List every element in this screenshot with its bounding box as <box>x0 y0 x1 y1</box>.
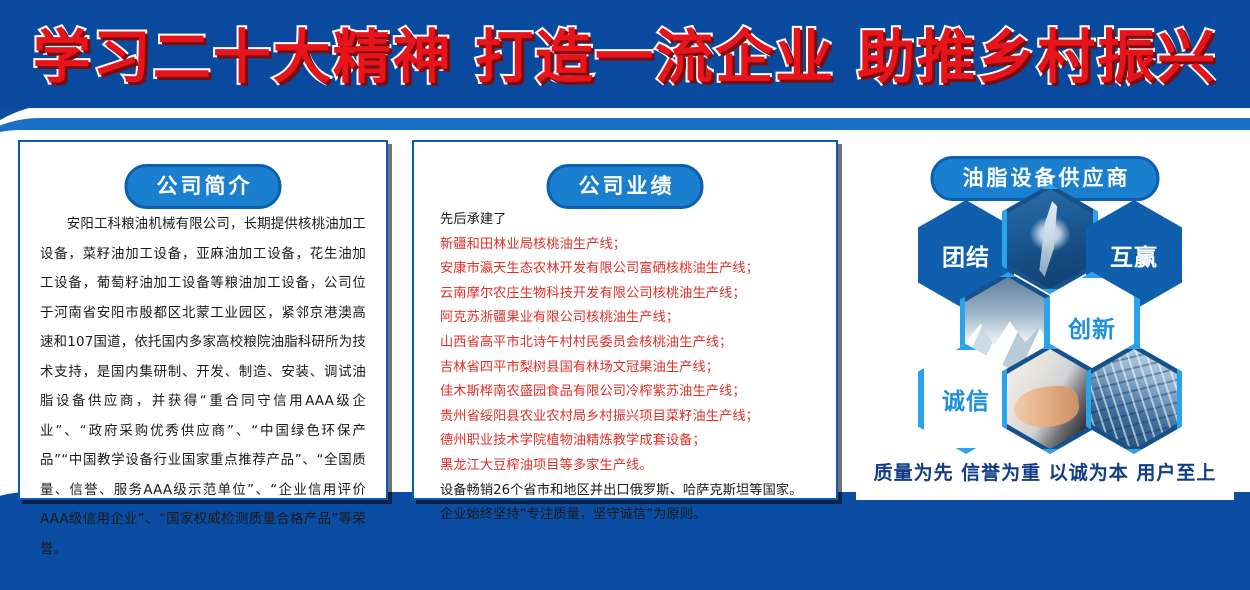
poster-root: 学习二十大精神 打造一流企业 助推乡村振兴 公司简介 安阳工科粮油机械有限公司，… <box>0 0 1250 590</box>
hexagon-photo-fill <box>1007 349 1093 449</box>
hexagon-photo-fill <box>1007 189 1093 289</box>
project-line: 安康市瀛天生态农林开发有限公司富硒核桃油生产线； <box>440 257 820 282</box>
project-line: 新疆和田林业局核桃油生产线； <box>440 233 820 258</box>
performance-footer-line: 设备畅销26个省市和地区并出口俄罗斯、哈萨克斯坦等国家。 <box>440 479 820 504</box>
supplier-tagline: 质量为先 信誉为重 以诚为本 用户至上 <box>856 458 1234 485</box>
project-line: 贵州省绥阳县农业农村局乡村振兴项目菜籽油生产线； <box>440 405 820 430</box>
company-intro-title: 公司简介 <box>125 164 282 209</box>
project-line: 德州职业技术学院植物油精炼教学成套设备； <box>440 429 820 454</box>
project-line: 山西省高平市北诗午村村民委员会核桃油生产线； <box>440 331 820 356</box>
hexagon-value-label: 团结 <box>942 238 990 272</box>
project-line: 黑龙江大豆榨油项目等多家生产线。 <box>440 454 820 479</box>
performance-footer-line: 企业始终坚持“专注质量，坚守诚信”为原则。 <box>440 503 820 528</box>
page-title: 学习二十大精神 打造一流企业 助推乡村振兴 <box>0 24 1250 90</box>
hexagon-value-label: 创新 <box>1068 310 1116 344</box>
project-line: 佳木斯桦南农盛园食品有限公司冷榨紫苏油生产线； <box>440 380 820 405</box>
project-line: 吉林省四平市梨树县国有林场文冠果油生产线； <box>440 356 820 381</box>
project-list: 新疆和田林业局核桃油生产线；安康市瀛天生态农林开发有限公司富硒核桃油生产线；云南… <box>440 233 820 479</box>
performance-intro-line: 先后承建了 <box>440 208 820 233</box>
project-line: 阿克苏浙疆果业有限公司核桃油生产线； <box>440 306 820 331</box>
company-performance-title: 公司业绩 <box>547 164 704 209</box>
hexagon-photo-fill <box>1091 349 1177 449</box>
company-intro-body: 安阳工科粮油机械有限公司，长期提供核桃油加工设备，菜籽油加工设备，亚麻油加工设备… <box>40 210 366 564</box>
hexagon-honeycomb: 团结互赢创新诚信 <box>856 196 1234 454</box>
performance-footer-list: 设备畅销26个省市和地区并出口俄罗斯、哈萨克斯坦等国家。企业始终坚持“专注质量，… <box>440 479 820 528</box>
supplier-values-card: 油脂设备供应商 团结互赢创新诚信 质量为先 信誉为重 以诚为本 用户至上 <box>856 140 1234 500</box>
company-performance-card: 公司业绩 先后承建了 新疆和田林业局核桃油生产线；安康市瀛天生态农林开发有限公司… <box>412 140 838 500</box>
project-line: 云南摩尔农庄生物科技开发有限公司核桃油生产线； <box>440 282 820 307</box>
hexagon-value-label: 互赢 <box>1110 238 1158 272</box>
hexagon-value-label: 诚信 <box>942 382 990 416</box>
company-performance-body: 先后承建了 新疆和田林业局核桃油生产线；安康市瀛天生态农林开发有限公司富硒核桃油… <box>440 208 820 528</box>
company-intro-card: 公司简介 安阳工科粮油机械有限公司，长期提供核桃油加工设备，菜籽油加工设备，亚麻… <box>18 140 388 500</box>
